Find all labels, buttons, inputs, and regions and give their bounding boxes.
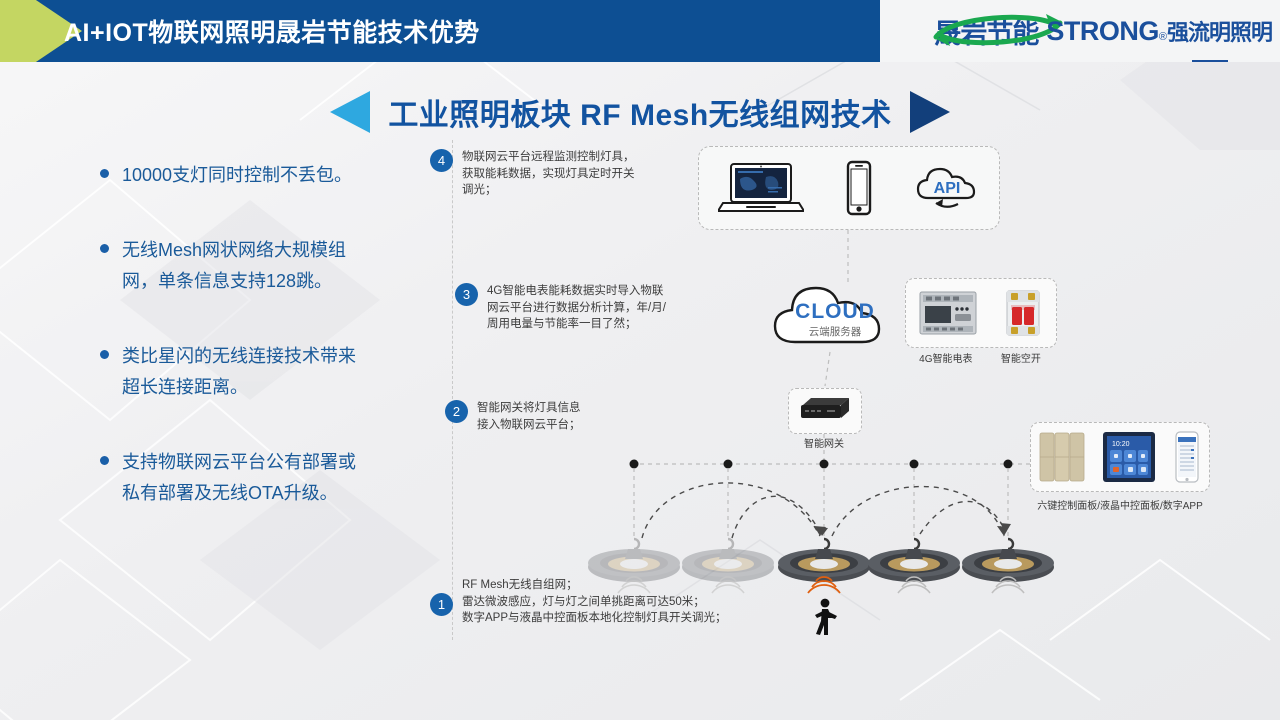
lcd-control-panel-icon: 10:20 <box>1101 430 1157 484</box>
logo-underline <box>1192 60 1228 62</box>
walking-person-icon <box>812 598 840 636</box>
bullet-dot-icon <box>100 456 109 465</box>
list-item: 类比星闪的无线连接技术带来超长连接距离。 <box>100 341 370 403</box>
svg-text:API: API <box>934 180 961 197</box>
page-title: AI+IOT物联网照明晟岩节能技术优势 <box>64 13 480 49</box>
lamp-off <box>588 539 680 582</box>
lamp-on <box>868 539 960 582</box>
logo-strong-text: STRONG <box>1046 16 1159 47</box>
breaker-label: 智能空开 <box>1001 350 1041 365</box>
logo-suffix-text: 强流明照明 <box>1167 15 1272 47</box>
gateway-label-wrap: 智能网关 <box>780 434 868 452</box>
smart-meter-icon <box>917 288 979 338</box>
step-rail-divider <box>452 140 453 640</box>
section-title-bar: 工业照明板块 RF Mesh无线组网技术 <box>0 86 1280 138</box>
step-number-badge: 2 <box>445 400 468 423</box>
bullet-text: 类比星闪的无线连接技术带来超长连接距离。 <box>122 341 370 403</box>
mobile-app-icon <box>1172 430 1202 484</box>
registered-mark-icon: ® <box>1159 31 1167 43</box>
step-description: 4G智能电表能耗数据实时导入物联 网云平台进行数据分析计算，年/月/ 周用电量与… <box>487 283 666 333</box>
lamp-on-sensing <box>778 539 870 582</box>
circuit-breaker-icon <box>1001 288 1045 338</box>
gateway-label: 智能网关 <box>804 439 844 450</box>
left-arrow-icon <box>330 91 370 133</box>
cloud-subtitle: 云端服务器 <box>765 324 905 339</box>
brand-logo: 晟岩节能 STRONG ® 强流明照明 <box>880 0 1280 62</box>
cloud-server-node: CLOUD 云端服务器 <box>765 280 905 350</box>
bullet-text: 10000支灯同时控制不丢包。 <box>122 160 352 191</box>
local-control-panel-group: 10:20 <box>1030 422 1210 492</box>
gateway-box-icon <box>797 395 853 427</box>
list-item: 10000支灯同时控制不丢包。 <box>100 160 370 191</box>
feature-bullet-list: 10000支灯同时控制不丢包。 无线Mesh网状网络大规模组网，单条信息支持12… <box>100 160 370 553</box>
step-item-4: 4 物联网云平台远程监测控制灯具， 获取能耗数据，实现灯具定时开关 调光； <box>430 149 635 199</box>
step-description: 物联网云平台远程监测控制灯具， 获取能耗数据，实现灯具定时开关 调光； <box>462 149 635 199</box>
step-number-badge: 4 <box>430 149 453 172</box>
right-arrow-icon <box>910 91 950 133</box>
smartphone-icon <box>842 159 876 217</box>
svg-text:10:20: 10:20 <box>1112 441 1130 448</box>
step-item-2: 2 智能网关将灯具信息 接入物联网云平台； <box>445 400 581 433</box>
list-item: 无线Mesh网状网络大规模组网，单条信息支持128跳。 <box>100 235 370 297</box>
api-cloud-icon: API <box>914 160 980 216</box>
lamp-on <box>962 539 1054 582</box>
cloud-title: CLOUD <box>765 300 905 324</box>
network-topology-diagram: 4 物联网云平台远程监测控制灯具， 获取能耗数据，实现灯具定时开关 调光； 3 … <box>420 140 1280 660</box>
bullet-text: 无线Mesh网状网络大规模组网，单条信息支持128跳。 <box>122 235 370 297</box>
control-panel-label-wrap: 六键控制面板/液晶中控面板/数字APP <box>1005 496 1235 514</box>
step-description: 智能网关将灯具信息 接入物联网云平台； <box>477 400 581 433</box>
cloud-client-devices-panel: API <box>698 146 1000 230</box>
six-key-panel-icon <box>1038 430 1086 484</box>
step-number-badge: 1 <box>430 593 453 616</box>
bullet-dot-icon <box>100 169 109 178</box>
bullet-text: 支持物联网云平台公有部署或私有部署及无线OTA升级。 <box>122 447 370 509</box>
power-metering-panel <box>905 278 1057 348</box>
step-item-3: 3 4G智能电表能耗数据实时导入物联 网云平台进行数据分析计算，年/月/ 周用电… <box>455 283 666 333</box>
step-number-badge: 3 <box>455 283 478 306</box>
page-header: AI+IOT物联网照明晟岩节能技术优势 晟岩节能 STRONG ® 强流明照明 <box>0 0 1280 62</box>
bullet-dot-icon <box>100 350 109 359</box>
logo-strong-lockup: STRONG ® 强流明照明 <box>1046 15 1272 47</box>
lamp-off <box>682 539 774 582</box>
control-panel-label: 六键控制面板/液晶中控面板/数字APP <box>1037 501 1203 512</box>
bullet-dot-icon <box>100 244 109 253</box>
power-metering-labels: 4G智能电表 智能空开 <box>905 350 1055 365</box>
smart-gateway-node <box>788 388 862 434</box>
logo-chinese-name: 晟岩节能 <box>934 12 1038 51</box>
list-item: 支持物联网云平台公有部署或私有部署及无线OTA升级。 <box>100 447 370 509</box>
meter-label: 4G智能电表 <box>919 350 972 365</box>
section-title: 工业照明板块 RF Mesh无线组网技术 <box>388 90 891 134</box>
laptop-dashboard-icon <box>718 159 804 217</box>
